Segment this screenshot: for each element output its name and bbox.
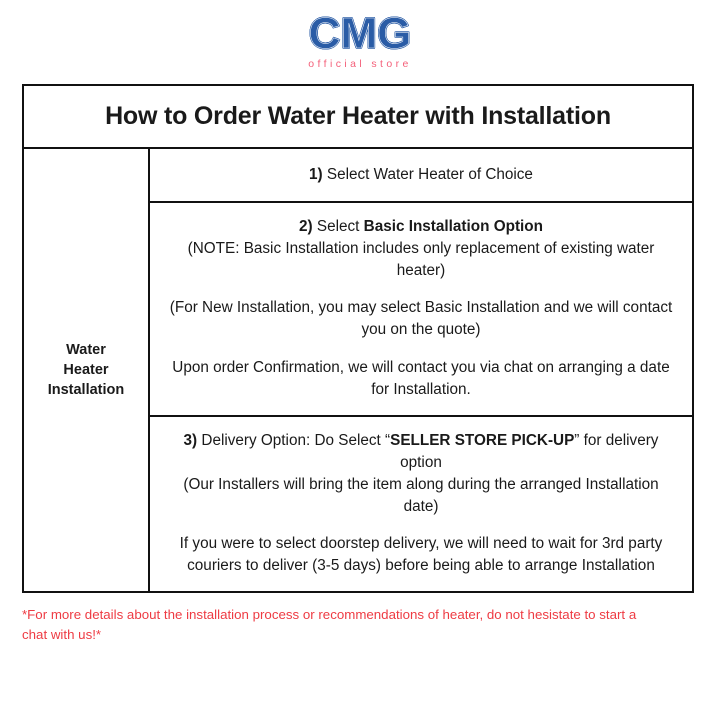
step-2-text-emphasis: Basic Installation Option <box>364 218 543 235</box>
footer-disclaimer: *For more details about the installation… <box>22 605 662 645</box>
instructions-table: How to Order Water Heater with Installat… <box>22 84 694 593</box>
brand-logo: CMG official store <box>0 0 720 70</box>
step-2-line: 2) Select Basic Installation Option <box>166 216 676 238</box>
step-3-text-emphasis: SELLER STORE PICK-UP <box>390 432 574 449</box>
logo-wordmark-cmg: CMG <box>309 12 412 56</box>
step-3-text-before: Delivery Option: Do Select “ <box>197 432 390 449</box>
step-2-number: 2) <box>299 218 313 235</box>
step-1-cell: 1) Select Water Heater of Choice <box>150 149 692 202</box>
step-3-cell: 3) Delivery Option: Do Select “SELLER ST… <box>150 415 692 590</box>
step-3-note: (Our Installers will bring the item alon… <box>166 474 676 517</box>
step-2-paragraph-2: Upon order Confirmation, we will contact… <box>166 357 676 400</box>
step-3-line: 3) Delivery Option: Do Select “SELLER ST… <box>166 430 676 473</box>
step-2-note: (NOTE: Basic Installation includes only … <box>166 238 676 281</box>
step-3-paragraph-1: If you were to select doorstep delivery,… <box>166 533 676 576</box>
logo-tagline: official store <box>308 59 411 70</box>
step-2-text-before: Select <box>313 218 364 235</box>
step-1-number: 1) <box>309 166 323 183</box>
row-header-cell: Water Heater Installation <box>24 149 150 591</box>
step-3-number: 3) <box>184 432 198 449</box>
steps-column: 1) Select Water Heater of Choice 2) Sele… <box>150 149 692 591</box>
table-title-row: How to Order Water Heater with Installat… <box>24 86 692 149</box>
step-2-cell: 2) Select Basic Installation Option (NOT… <box>150 201 692 415</box>
step-1-text: Select Water Heater of Choice <box>323 166 533 183</box>
row-header-label: Water Heater Installation <box>48 340 125 400</box>
step-2-paragraph-1: (For New Installation, you may select Ba… <box>166 297 676 340</box>
step-1-line: 1) Select Water Heater of Choice <box>166 164 676 186</box>
table-body-row: Water Heater Installation 1) Select Wate… <box>24 149 692 591</box>
page-title: How to Order Water Heater with Installat… <box>32 101 684 131</box>
